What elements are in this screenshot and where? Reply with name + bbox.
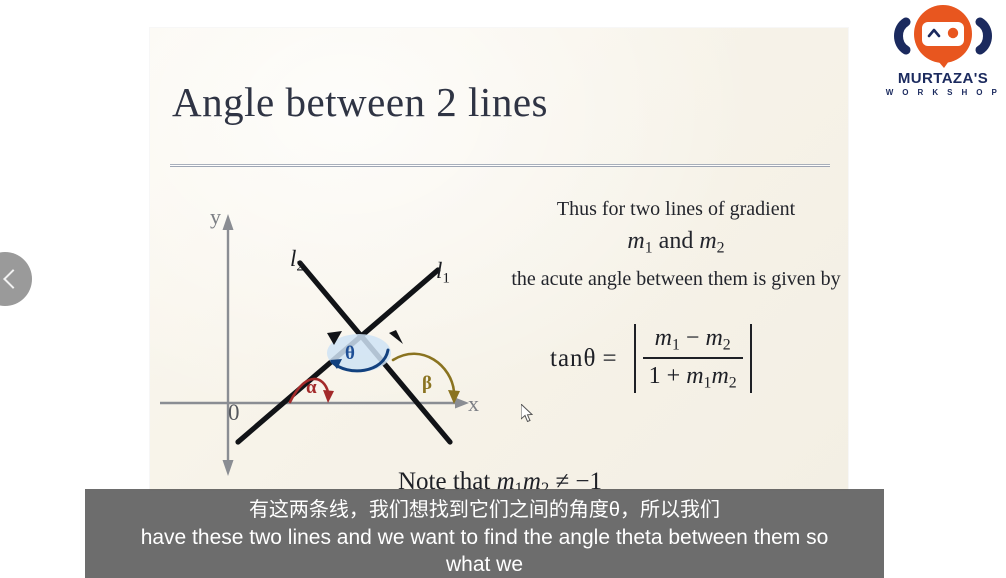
slide-title: Angle between 2 lines <box>172 78 548 126</box>
num-m2: m <box>705 325 722 351</box>
y-axis-label: y <box>210 204 221 230</box>
num-minus-sign: − <box>686 325 700 351</box>
and-word: and <box>659 228 694 254</box>
mouse-cursor <box>521 404 535 424</box>
num-m1: m <box>655 325 672 351</box>
gradient-symbols-text: m1 and m2 <box>506 228 846 257</box>
axes-group <box>160 214 469 476</box>
den-one-plus: 1 + <box>649 363 681 389</box>
title-divider-rule <box>170 164 830 167</box>
formula-lhs: tanθ <box>550 345 597 373</box>
m2-symbol: m <box>699 228 716 254</box>
slide-frame: Angle between 2 lines Thus for two lines… <box>150 28 848 490</box>
note-m2: m <box>523 468 541 490</box>
den-m2-sub: 2 <box>729 375 737 392</box>
l2-direction-arrow <box>389 330 403 344</box>
subtitle-english-line1: have these two lines and we want to find… <box>85 524 884 551</box>
note-relation: ≠ −1 <box>555 468 602 490</box>
line-l2-label: l2 <box>290 246 304 275</box>
alpha-arrowhead <box>323 390 334 403</box>
acute-angle-text: the acute angle between them is given by <box>466 268 848 291</box>
fraction-denominator: 1 + m1m2 <box>643 359 743 393</box>
chevron-left-icon <box>3 269 23 289</box>
fraction-numerator: m1 − m2 <box>649 324 737 357</box>
origin-label: 0 <box>228 400 240 426</box>
collapse-sidebar-button[interactable] <box>0 252 32 306</box>
num-m2-sub: 2 <box>723 336 731 353</box>
robot-logo-icon <box>884 4 1002 68</box>
video-player-root: Angle between 2 lines Thus for two lines… <box>0 0 1006 578</box>
m1-subscript: 1 <box>645 239 653 256</box>
subtitle-overlay: 有这两条线，我们想找到它们之间的角度θ，所以我们 have these two … <box>85 489 884 578</box>
logo-tagline-text: W O R K S H O P <box>884 88 1002 97</box>
line-l1-label: l1 <box>436 258 450 287</box>
subtitle-chinese: 有这两条线，我们想找到它们之间的角度θ，所以我们 <box>85 497 884 524</box>
tan-theta-formula: tanθ = m1 − m2 1 + m1m2 <box>550 324 759 393</box>
beta-label: β <box>422 373 432 395</box>
theta-label: θ <box>345 343 355 365</box>
formula-equals: = <box>603 345 617 373</box>
abs-bar-right <box>750 324 752 393</box>
alpha-label: α <box>306 377 317 399</box>
angle-diagram: y x 0 l2 l1 α θ β <box>160 170 490 480</box>
note-m1: m <box>497 468 515 490</box>
m1-symbol: m <box>627 228 644 254</box>
den-m1: m <box>686 363 703 389</box>
brand-logo: MURTAZA'S W O R K S H O P <box>884 4 1002 104</box>
logo-brand-text: MURTAZA'S <box>884 70 1002 87</box>
abs-bar-left <box>634 324 636 393</box>
den-m2: m <box>711 363 728 389</box>
gradient-intro-text: Thus for two lines of gradient <box>506 198 846 221</box>
num-m1-sub: 1 <box>672 336 680 353</box>
subtitle-english-line2: what we <box>85 551 884 578</box>
x-axis-label: x <box>468 391 479 417</box>
m2-subscript: 2 <box>717 239 725 256</box>
formula-fraction: m1 − m2 1 + m1m2 <box>643 324 743 393</box>
